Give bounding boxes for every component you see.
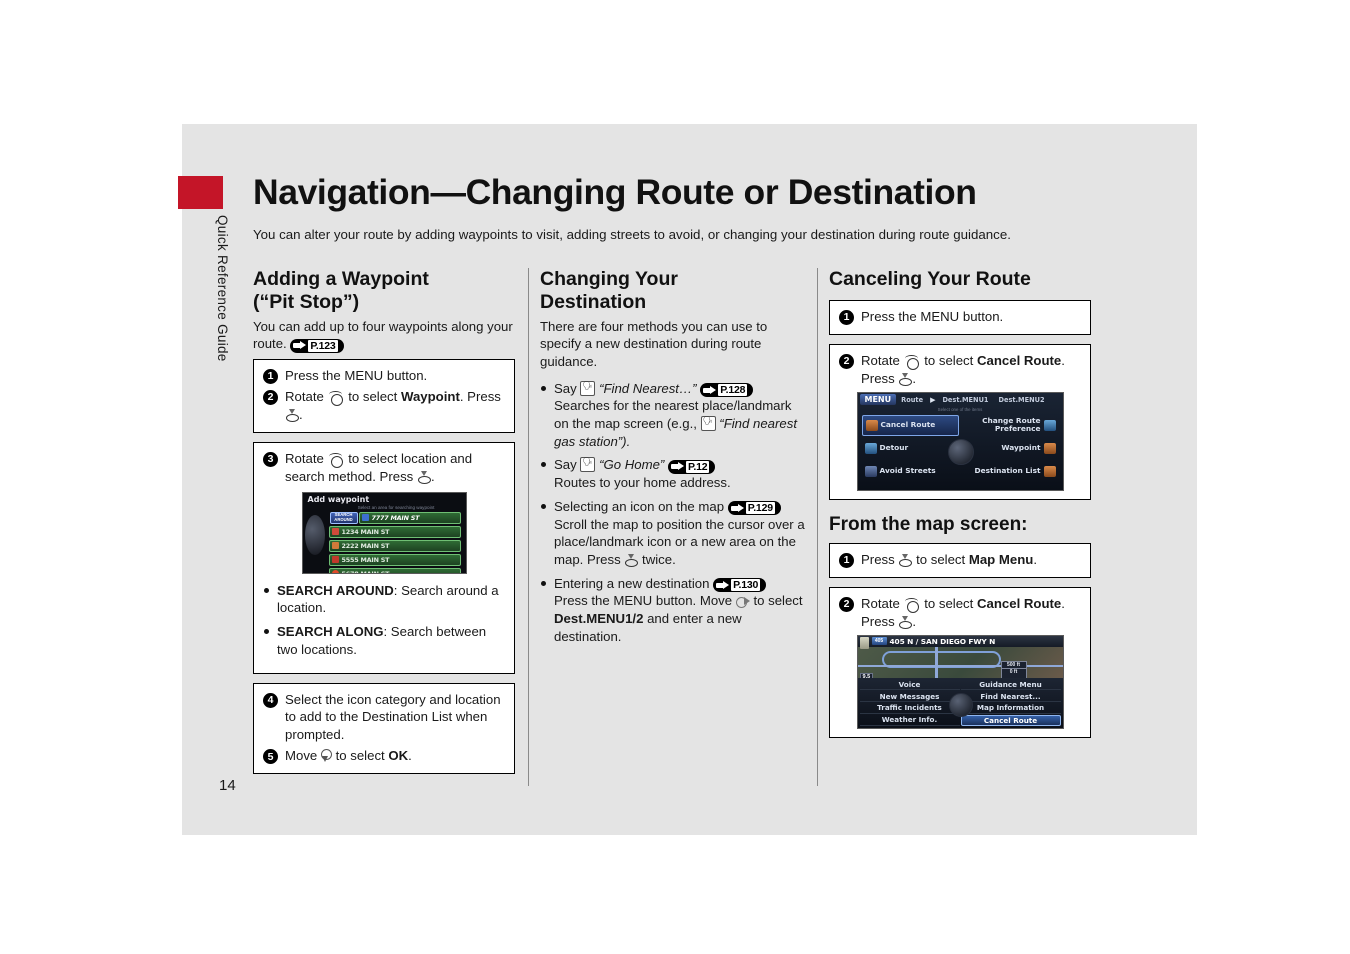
row-chip-icon [332,542,339,549]
step-number: 1 [263,369,278,384]
move-right-icon [736,596,750,608]
step-text: Rotate to select location and search met… [285,450,505,486]
page-title: Navigation—Changing Route or Destination [253,172,977,213]
arrow-icon [731,504,744,513]
map-menu-item-weather-info[interactable]: Weather Info. [860,715,960,726]
step-text: Rotate to select Cancel Route. Press . [861,595,1081,631]
page-ref-label: P.123 [308,340,337,352]
menu-tab-bar: MENU Route ▶ Dest.MENU1 Dest.MENU2 [858,393,1063,407]
page-ref-label: P.128 [718,384,747,396]
rotate-knob-icon [328,453,345,466]
waypoint-icon [1044,443,1056,454]
row-label: 2222 MAIN ST [342,542,390,550]
page-ref-label: P.130 [731,579,760,591]
destination-body-text: There are four methods you can use to sp… [540,318,805,371]
route-menu-screenshot: MENU Route ▶ Dest.MENU1 Dest.MENU2 Selec… [857,392,1064,491]
mapstep2-lead: Rotate [861,596,900,611]
column-canceling-route: Canceling Your Route 1 Press the MENU bu… [829,268,1091,747]
arrow-icon [293,341,306,350]
item-detail: Press the MENU button. Move [554,593,732,608]
map-menu-label: Voice [899,680,921,689]
step-2: 2 Rotate to select Waypoint. Press . [263,388,505,424]
map-menu-item-guidance-menu[interactable]: Guidance Menu [961,680,1061,691]
row-chip-icon [332,570,339,574]
cancel-route-icon [866,420,878,431]
map-menu-item-find-nearest[interactable]: Find Nearest... [961,691,1061,702]
step-text: Select the icon category and location to… [285,691,505,745]
exit-info-icon [860,637,869,649]
map-scale-sub: 0 ft [1002,668,1026,675]
step-4: 4 Select the icon category and location … [263,691,505,745]
tab-route[interactable]: Route [896,396,928,404]
red-accent-tab [178,176,223,209]
waypoint-row[interactable]: 7777 MAIN ST [359,512,461,524]
screen-knob-graphic [305,515,325,555]
map-menu-label: Guidance Menu [979,680,1042,689]
waypoint-row[interactable]: 5555 MAIN ST [329,554,461,566]
mapstep1-lead: Press [861,552,895,567]
step2-bold: Waypoint [401,389,460,404]
menu-item-label: Avoid Streets [880,467,936,476]
map-scale-box: 500 ft 0 ft [1001,661,1027,679]
row-label: 1234 MAIN ST [342,528,390,536]
press-knob-icon [898,616,912,629]
subsection-heading-map-screen: From the map screen: [829,514,1091,536]
row-label: 5555 MAIN ST [342,556,390,564]
heading-line-1: Changing Your [540,268,678,290]
map-menu-label: Cancel Route [984,716,1037,725]
map-road-vertical [935,647,938,678]
menu-item-label: Waypoint [1001,444,1040,453]
rotate-knob-icon [328,391,345,404]
press-knob-icon [417,471,431,484]
tab-dest-menu-1[interactable]: Dest.MENU1 [937,396,993,404]
item-quote: “Go Home” [599,457,664,472]
step-1: 1 Press to select Map Menu. [839,551,1081,569]
step-number: 1 [839,553,854,568]
map-menu-item-new-messages[interactable]: New Messages [860,691,960,702]
step-text: Move to select OK. [285,747,505,765]
list-item: SEARCH AROUND: Search around a location. [263,582,505,617]
row-label: 5678 MAIN ST [342,570,390,574]
step-number: 2 [839,597,854,612]
page-ref-label: P.12 [686,461,709,473]
map-road-horizontal [858,665,1063,668]
section-heading-waypoint: Adding a Waypoint (“Pit Stop”) [253,268,515,314]
list-item: Say “Find Nearest…” P.128 Searches for t… [540,380,805,451]
menu-item-change-route-preference[interactable]: Change Route Preference [961,415,1059,436]
waypoint-row-list: 7777 MAIN ST 1234 MAIN ST 2222 MAIN ST 5… [329,512,461,574]
step-text: Press the MENU button. [861,308,1081,326]
row-chip-icon [332,556,339,563]
map-canvas: 9.5 500 ft 0 ft [858,647,1063,678]
menu-item-label: Destination List [974,467,1040,476]
step2-mid: to select [348,389,397,404]
bullet-bold: SEARCH ALONG [277,624,383,639]
step2-mid: to select [924,353,973,368]
menu-item-waypoint[interactable]: Waypoint [961,438,1059,459]
map-step-box-2: 2 Rotate to select Cancel Route. Press .… [829,587,1091,738]
step-number: 2 [263,390,278,405]
step2-lead: Rotate [285,389,324,404]
list-item: Entering a new destination P.130 Press t… [540,575,805,646]
item-lead: Entering a new destination [554,576,709,591]
page-ref-badge[interactable]: P.128 [700,383,753,397]
map-menu-label: Traffic Incidents [877,703,942,712]
menu-item-detour[interactable]: Detour [862,438,960,459]
page-intro: You can alter your route by adding waypo… [253,227,1011,242]
item-detail: Routes to your home address. [554,475,731,490]
destination-method-list: Say “Find Nearest…” P.128 Searches for t… [540,380,805,646]
section-heading-cancel: Canceling Your Route [829,268,1091,291]
column-divider-1 [528,268,529,786]
page-ref-badge[interactable]: P.129 [728,501,781,515]
arrow-icon [671,462,684,471]
row-chip-icon [332,528,339,535]
mapstep2-bold: Cancel Route [977,596,1061,611]
menu-item-label: Detour [880,444,909,453]
item-lead: Say [554,381,577,396]
heading-line-1: Adding a Waypoint [253,268,429,290]
bullet-bold: SEARCH AROUND [277,583,394,598]
item-lead: Say [554,457,577,472]
map-menu-label: Map Information [977,703,1044,712]
voice-command-icon [580,457,595,472]
menu-item-label: Change Route Preference [964,417,1041,434]
side-tab-label: Quick Reference Guide [206,215,230,415]
steps-box-1-2: 1 Press the MENU button. 2 Rotate to sel… [253,359,515,433]
step-number: 1 [839,310,854,325]
map-menu-item-traffic-incidents[interactable]: Traffic Incidents [860,703,960,714]
mapstep1-mid: to select [916,552,965,567]
step-text: Rotate to select Cancel Route. Press . [861,352,1081,388]
map-step-box-1: 1 Press to select Map Menu. [829,543,1091,578]
step5-lead: Move [285,748,317,763]
heading-line-2: Destination [540,291,646,313]
menu-item-cancel-route[interactable]: Cancel Route [862,415,960,436]
row-label: 7777 MAIN ST [372,514,420,522]
page-ref-badge[interactable]: P.123 [290,339,343,353]
step-number: 5 [263,749,278,764]
page-number: 14 [219,777,236,794]
destination-list-icon [1044,466,1056,477]
menu-hint-text: Select one of the items [858,407,1063,412]
tab-menu[interactable]: MENU [860,394,897,405]
step5-bold: OK [388,748,408,763]
menu-item-grid: Cancel Route Change Route Preference Det… [862,415,1059,482]
waypoint-row[interactable]: 5678 MAIN ST [329,568,461,574]
step-3: 3 Rotate to select location and search m… [263,450,505,486]
tab-dest-menu-2[interactable]: Dest.MENU2 [994,396,1050,404]
menu-item-avoid-streets[interactable]: Avoid Streets [862,461,960,482]
voice-command-icon [580,381,595,396]
step-2: 2 Rotate to select Cancel Route. Press . [839,352,1081,388]
column-changing-destination: Changing Your Destination There are four… [540,268,805,651]
waypoint-screen-title: Add waypoint [308,495,370,504]
map-area: 9.5 500 ft 0 ft 405 405 N / SAN DIEGO FW… [858,636,1063,678]
step-number: 3 [263,452,278,467]
section-heading-destination: Changing Your Destination [540,268,805,314]
step-1: 1 Press the MENU button. [839,308,1081,326]
step-1: 1 Press the MENU button. [263,367,505,385]
map-menu-item-voice[interactable]: Voice [860,680,960,691]
item-lead: Selecting an icon on the map [554,499,724,514]
step-2: 2 Rotate to select Cancel Route. Press . [839,595,1081,631]
route-preference-icon [1044,420,1056,431]
highway-shield-icon: 405 [872,637,887,645]
page-ref-badge[interactable]: P.12 [668,460,715,474]
map-menu-label: Find Nearest... [980,692,1040,701]
step-number: 4 [263,693,278,708]
column-adding-waypoint: Adding a Waypoint (“Pit Stop”) You can a… [253,268,515,783]
arrow-icon [716,581,729,590]
map-header-bar: 405 405 N / SAN DIEGO FWY N [858,636,1063,647]
step-text: Press the MENU button. [285,367,505,385]
steps-box-4-5: 4 Select the icon category and location … [253,683,515,775]
step-text: Press to select Map Menu. [861,551,1081,569]
heading-line-2: (“Pit Stop”) [253,291,359,313]
add-waypoint-screenshot: Add waypoint Select an area for searchin… [302,492,467,574]
detour-icon [865,443,877,454]
step2-lead: Rotate [861,353,900,368]
list-item: Selecting an icon on the map P.129 Scrol… [540,498,805,569]
map-menu-label: New Messages [880,692,940,701]
item-detail-bold: Dest.MENU1/2 [554,611,643,626]
menu-item-destination-list[interactable]: Destination List [961,461,1059,482]
map-menu-item-map-information[interactable]: Map Information [961,703,1061,714]
rotate-knob-icon [904,598,921,611]
menu-item-label: Cancel Route [881,421,936,430]
avoid-streets-icon [865,466,877,477]
waypoint-row[interactable]: 1234 MAIN ST [329,526,461,538]
item-detail: Scroll the map to position the cursor ov… [554,517,805,567]
map-menu-item-cancel-route[interactable]: Cancel Route [961,715,1061,726]
voice-command-icon [701,416,716,431]
waypoint-screen-subtitle: Select an area for searching waypoint [331,505,462,510]
mapstep2-mid: to select [924,596,973,611]
map-menu-label: Weather Info. [882,715,937,724]
list-item: SEARCH ALONG: Search between two locatio… [263,623,505,658]
step-number: 2 [839,354,854,369]
row-chip-icon [362,514,369,521]
step5-mid: to select [336,748,385,763]
map-road-name: 405 N / SAN DIEGO FWY N [890,637,996,646]
waypoint-body-text: You can add up to four waypoints along y… [253,318,515,353]
press-knob-icon [285,409,299,422]
arrow-icon [703,386,716,395]
move-joystick-icon [321,749,332,763]
step-text: Rotate to select Waypoint. Press . [285,388,505,424]
cancel-step-box-2: 2 Rotate to select Cancel Route. Press .… [829,344,1091,500]
item-detail-tail: twice. [642,552,676,567]
item-detail-mid: to select [753,593,802,608]
mapstep1-bold: Map Menu [969,552,1033,567]
press-knob-icon [898,373,912,386]
step-5: 5 Move to select OK. [263,747,505,765]
cancel-step-box-1: 1 Press the MENU button. [829,300,1091,335]
waypoint-row[interactable]: 2222 MAIN ST [329,540,461,552]
map-screen-screenshot: 9.5 500 ft 0 ft 405 405 N / SAN DIEGO FW… [857,635,1064,729]
page-ref-badge[interactable]: P.130 [713,578,766,592]
step3-lead: Rotate [285,451,324,466]
screen-knob-graphic [949,693,973,717]
column-divider-2 [817,268,818,786]
press-knob-icon [624,554,638,567]
page-ref-label: P.129 [746,502,775,514]
steps-box-3: 3 Rotate to select location and search m… [253,442,515,674]
step2-bold: Cancel Route [977,353,1061,368]
rotate-knob-icon [904,355,921,368]
item-quote: “Find Nearest…” [599,381,696,396]
list-item: Say “Go Home” P.12 Routes to your home a… [540,456,805,491]
step2-tail: . Press [460,389,501,404]
press-knob-icon [898,554,912,567]
play-arrow-icon: ▶ [930,396,935,404]
search-method-list: SEARCH AROUND: Search around a location.… [263,582,505,659]
